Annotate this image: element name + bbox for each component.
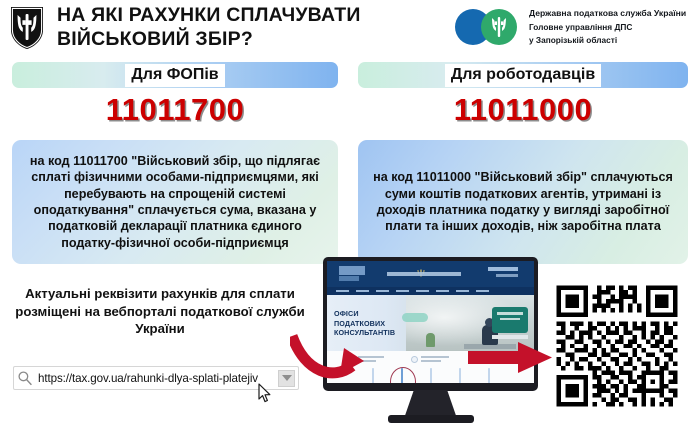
logo-circles	[455, 7, 521, 47]
site-nav-item[interactable]	[436, 290, 449, 293]
column-header-bar-fop: Для ФОПів	[12, 62, 338, 88]
monitor-stand-neck	[405, 390, 457, 417]
documents-service-icon[interactable]	[392, 369, 412, 383]
site-nav-item[interactable]	[376, 290, 389, 293]
quicklink-icon	[411, 356, 418, 363]
site-nav-bar[interactable]	[327, 287, 534, 295]
site-header-link-1[interactable]	[488, 267, 518, 271]
account-number-fop: 11011700	[12, 92, 338, 128]
site-nav-item[interactable]	[336, 290, 349, 293]
org-line-3: у Запорізькій області	[529, 34, 686, 47]
column-header-bar-employers: Для роботодавців	[358, 62, 688, 88]
site-top-bar	[327, 261, 534, 287]
ukraine-trident-shield-icon	[9, 6, 45, 50]
url-input[interactable]: https://tax.gov.ua/rahunki-dlya-splati-p…	[38, 372, 273, 385]
url-address-bar[interactable]: https://tax.gov.ua/rahunki-dlya-splati-p…	[13, 366, 299, 390]
hero-cta-line	[497, 312, 523, 315]
service-icon-3[interactable]	[421, 369, 441, 383]
column-title-fop: Для ФОПів	[125, 64, 224, 87]
monitor-stand-base	[388, 415, 474, 423]
column-title-employers: Для роботодавців	[445, 64, 601, 87]
magnifier-icon	[17, 370, 33, 386]
arrow-right-icon	[468, 340, 554, 376]
hero-cta-caption	[492, 335, 528, 339]
site-nav-item[interactable]	[356, 290, 369, 293]
infographic-page: НА ЯКІ РАХУНКИ СПЛАЧУВАТИ ВІЙСЬКОВИЙ ЗБІ…	[0, 0, 700, 429]
hero-title-line-2: ПОДАТКОВИХ	[334, 319, 395, 329]
description-box-employers: на код 11011000 "Військовий збір" сплачу…	[358, 140, 688, 264]
hero-plant	[426, 333, 435, 347]
footer-note: Актуальні реквізити рахунків для сплати …	[10, 285, 310, 338]
site-nav-item[interactable]	[476, 290, 489, 293]
quicklink-label	[421, 356, 449, 363]
site-header-link-2[interactable]	[496, 274, 518, 277]
hero-cta-card[interactable]	[492, 307, 528, 333]
service-tile-icon	[459, 368, 461, 383]
service-tile-icon	[430, 368, 432, 383]
service-tile-icon	[401, 368, 403, 383]
hero-cta-line	[500, 318, 520, 321]
site-trident-icon	[417, 264, 425, 272]
organization-logo: Державна податкова служба України Головн…	[455, 7, 686, 47]
page-title: НА ЯКІ РАХУНКИ СПЛАЧУВАТИ ВІЙСЬКОВИЙ ЗБІ…	[57, 4, 457, 52]
site-title-text	[387, 272, 461, 276]
logo-circle-green	[481, 9, 517, 45]
trident-icon	[491, 15, 507, 39]
account-number-employers: 11011000	[358, 92, 688, 128]
description-box-fop: на код 11011700 "Військовий збір, що під…	[12, 140, 338, 264]
header: НА ЯКІ РАХУНКИ СПЛАЧУВАТИ ВІЙСЬКОВИЙ ЗБІ…	[0, 0, 700, 56]
hero-badge	[402, 313, 428, 322]
service-icon-4[interactable]	[450, 369, 470, 383]
org-line-1: Державна податкова служба України	[529, 7, 686, 20]
site-nav-item[interactable]	[396, 290, 409, 293]
site-logo-sub	[339, 276, 359, 281]
site-logo-icon	[339, 266, 365, 275]
site-quicklink[interactable]	[411, 356, 449, 363]
site-nav-item[interactable]	[416, 290, 429, 293]
qr-code-icon[interactable]	[552, 281, 682, 411]
curved-arrow-right-icon	[290, 330, 380, 386]
site-nav-item[interactable]	[456, 290, 469, 293]
hero-title-line-1: ОФІСИ	[334, 309, 395, 319]
organization-name: Державна податкова служба України Головн…	[529, 7, 686, 46]
org-line-2: Головне управління ДПС	[529, 21, 686, 34]
mouse-pointer-icon	[258, 383, 272, 403]
